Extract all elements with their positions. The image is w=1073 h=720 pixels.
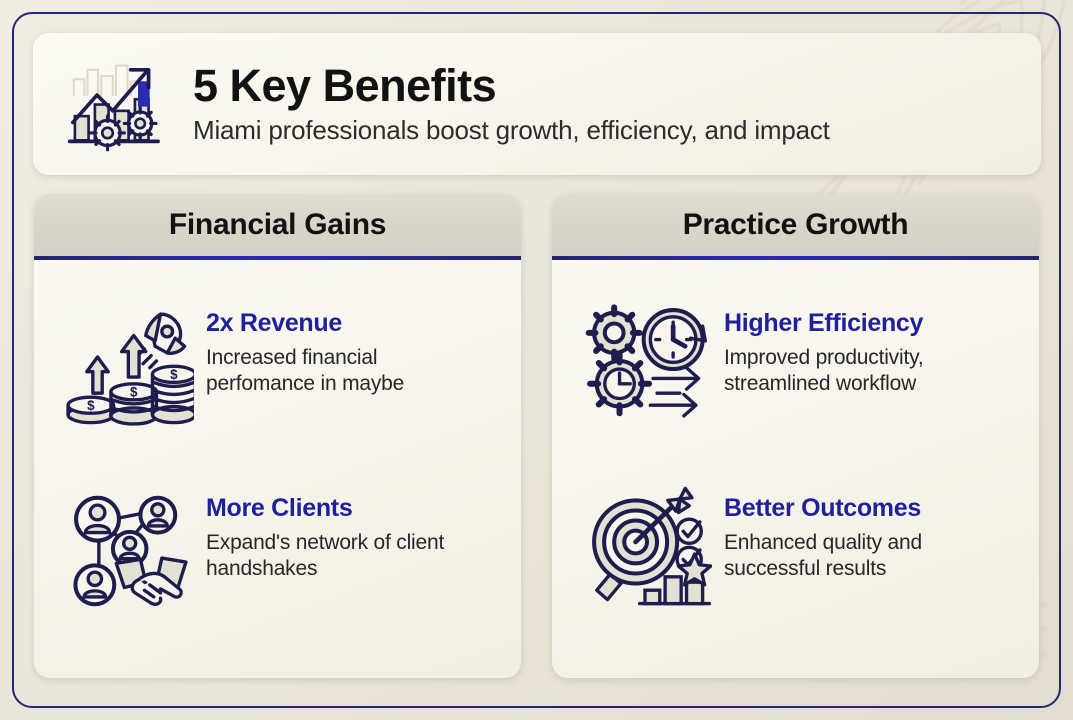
benefit-description: Improved productivity, streamlined workf… xyxy=(724,345,984,399)
column-financial-gains: Financial Gains xyxy=(34,194,521,678)
benefit-description: Enhanced quality and successful results xyxy=(724,530,984,584)
benefit-title: More Clients xyxy=(206,495,466,523)
network-handshake-icon xyxy=(48,473,206,623)
coin-stacks-rocket-icon: $ $ xyxy=(48,288,206,438)
header-card: 5 Key Benefits Miami professionals boost… xyxy=(33,33,1041,175)
benefit-item-more-clients[interactable]: More Clients Expand's network of client … xyxy=(48,473,503,658)
column-header-practice-growth: Practice Growth xyxy=(552,194,1039,256)
column-practice-growth: Practice Growth xyxy=(552,194,1039,678)
benefit-title: 2x Revenue xyxy=(206,310,466,338)
benefit-title: Better Outcomes xyxy=(724,495,984,523)
page-title: 5 Key Benefits xyxy=(193,62,830,110)
gears-clock-arrows-icon xyxy=(566,288,724,438)
benefit-title: Higher Efficiency xyxy=(724,310,984,338)
benefit-item-better-outcomes[interactable]: Better Outcomes Enhanced quality and suc… xyxy=(566,473,1021,658)
column-header-financial-gains: Financial Gains xyxy=(34,194,521,256)
growth-chart-gears-icon xyxy=(63,54,171,154)
svg-text:$: $ xyxy=(87,398,95,413)
svg-text:$: $ xyxy=(130,385,138,400)
benefit-item-2x-revenue[interactable]: $ $ xyxy=(48,288,503,473)
svg-text:$: $ xyxy=(170,367,178,382)
column-title: Practice Growth xyxy=(683,208,909,242)
infographic-canvas: 5 Key Benefits Miami professionals boost… xyxy=(0,0,1073,720)
page-subtitle: Miami professionals boost growth, effici… xyxy=(193,115,830,146)
column-title: Financial Gains xyxy=(169,208,386,242)
benefit-description: Expand's network of client handshakes xyxy=(206,530,466,584)
target-arrow-checkmarks-icon xyxy=(566,473,724,623)
benefit-item-higher-efficiency[interactable]: Higher Efficiency Improved productivity,… xyxy=(566,288,1021,473)
benefit-description: Increased financial perfomance in maybe xyxy=(206,345,466,399)
